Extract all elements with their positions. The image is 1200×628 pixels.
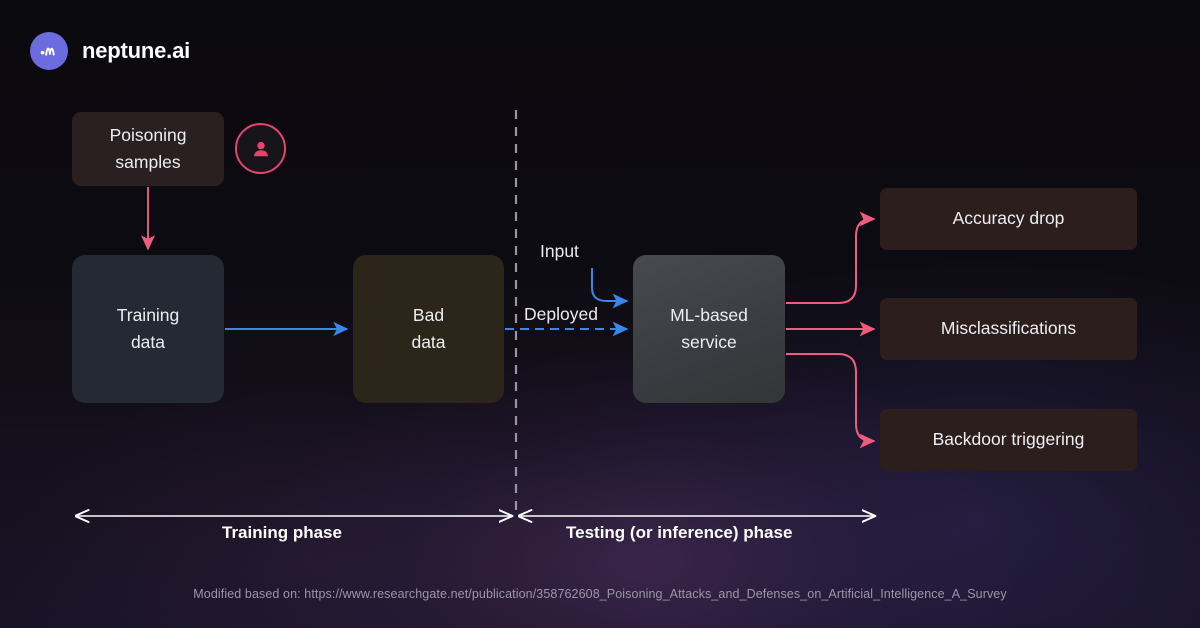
- edge-label-input: Input: [540, 241, 579, 262]
- node-poisoning-line1: Poisoning: [110, 122, 187, 149]
- brand-name: neptune.ai: [82, 38, 190, 64]
- node-accuracy-drop: Accuracy drop: [880, 188, 1137, 250]
- attacker-person-icon: [235, 123, 286, 174]
- node-ml-based-service: ML-based service: [633, 255, 785, 403]
- node-poisoning-samples: Poisoning samples: [72, 112, 224, 186]
- node-backdoor-triggering: Backdoor triggering: [880, 409, 1137, 471]
- node-training-data: Training data: [72, 255, 224, 403]
- source-footnote: Modified based on: https://www.researchg…: [0, 587, 1200, 601]
- brand-logo: neptune.ai: [30, 32, 190, 70]
- node-poisoning-line2: samples: [110, 149, 187, 176]
- node-misclass-label: Misclassifications: [941, 315, 1076, 342]
- node-ml-line2: service: [670, 329, 748, 356]
- phase-label-training: Training phase: [222, 523, 342, 543]
- node-bad-line1: Bad: [411, 302, 445, 329]
- edge-ml-to-backdoor: [786, 354, 874, 441]
- node-bad-line2: data: [411, 329, 445, 356]
- neptune-waveform-icon: [30, 32, 68, 70]
- node-training-line1: Training: [117, 302, 180, 329]
- edge-label-deployed: Deployed: [524, 304, 598, 325]
- node-bad-data: Bad data: [353, 255, 504, 403]
- node-backdoor-label: Backdoor triggering: [933, 426, 1085, 453]
- diagram-canvas: neptune.ai: [0, 0, 1200, 628]
- node-ml-line1: ML-based: [670, 302, 748, 329]
- edge-input-to-ml: [592, 268, 627, 301]
- node-training-line2: data: [117, 329, 180, 356]
- phase-label-testing: Testing (or inference) phase: [566, 523, 792, 543]
- node-accuracy-label: Accuracy drop: [953, 205, 1065, 232]
- node-misclassifications: Misclassifications: [880, 298, 1137, 360]
- edge-ml-to-accuracy: [786, 219, 874, 303]
